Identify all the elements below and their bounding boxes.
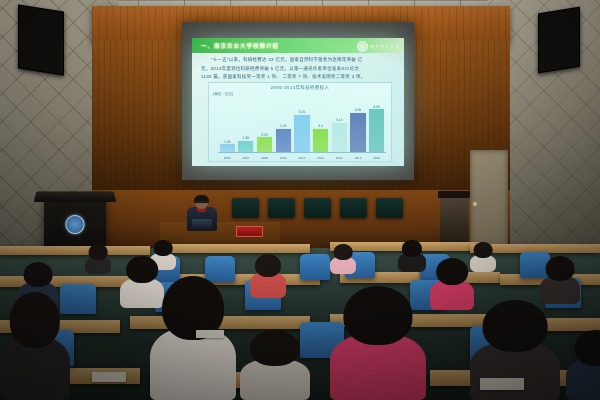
person-head	[250, 330, 300, 366]
audience-member	[250, 254, 286, 298]
person-head	[334, 244, 353, 260]
person-head	[255, 254, 281, 277]
lectern-top	[34, 191, 117, 202]
audience-member	[0, 292, 70, 400]
loudspeaker-right	[538, 7, 580, 74]
bar-value-label: 1.55	[243, 136, 249, 140]
bar-year-label: 2014	[373, 156, 380, 160]
bar-year-label: 2010	[299, 156, 306, 160]
bar	[332, 123, 347, 152]
slide-body-line-2: 元。2014年度到位科研经费突破 6 亿元，以第一通讯作者单位发表SCI论文	[201, 66, 395, 72]
audience-member	[85, 244, 111, 274]
presenter	[186, 196, 218, 230]
chart-plot-area: 1.0820061.5520072.0920083.2520095.262010…	[218, 99, 386, 152]
paper-notes	[480, 378, 524, 390]
slide-body-line-3: 1130 篇，获国家科技奖一等奖 1 项、 二等奖 7 项、技术发明奖二等奖 3…	[201, 74, 395, 80]
stage-chair	[268, 198, 295, 218]
audience-member	[540, 256, 580, 304]
projection-screen: 一、南京农业大学校情介绍 南京农业大学 “十一五”以来，科研经费达 33 亿元，…	[182, 22, 414, 180]
bar-column: 3.32011	[311, 99, 329, 152]
chart-y-unit-label: (单位：亿元)	[213, 92, 233, 97]
audience-member	[398, 240, 426, 272]
bar	[220, 144, 235, 152]
bar-year-label: 2007	[243, 156, 250, 160]
bar-year-label: 2011	[317, 156, 323, 160]
university-seal-icon	[357, 41, 368, 52]
stage-chair	[340, 198, 367, 218]
stage-chair-row	[232, 198, 412, 220]
bar-column: 3.252009	[274, 99, 292, 152]
audience-member	[566, 330, 600, 400]
bar	[276, 129, 291, 152]
door-knob-icon	[473, 202, 477, 206]
paper-notes	[92, 372, 126, 382]
audience-member	[240, 330, 310, 400]
bar-column: 6.052014	[368, 99, 386, 152]
bar-year-label: 2013	[355, 156, 362, 160]
projected-slide: 一、南京农业大学校情介绍 南京农业大学 “十一五”以来，科研经费达 33 亿元，…	[192, 38, 404, 166]
bar-column: 4.142012	[330, 99, 348, 152]
audience-member	[330, 244, 356, 274]
bar-value-label: 3.3	[318, 124, 323, 128]
stage-chair	[232, 198, 259, 218]
person-head	[154, 240, 173, 256]
bar-year-label: 2006	[224, 156, 231, 160]
bar-year-label: 2012	[336, 156, 343, 160]
person-head	[24, 262, 53, 287]
stage-chair	[376, 198, 403, 218]
bar-value-label: 5.56	[355, 108, 361, 112]
loudspeaker-left	[18, 4, 64, 75]
red-nameplate	[236, 226, 263, 237]
bar-value-label: 3.25	[280, 124, 286, 128]
bar-chart: 2006-2014年科技经费投入 (单位：亿元) 1.0820061.55200…	[208, 82, 392, 162]
bar-column: 1.082006	[218, 99, 236, 152]
audience-member	[150, 276, 236, 400]
bar	[350, 113, 365, 152]
person-head	[436, 258, 468, 285]
audience-member	[330, 286, 426, 400]
university-emblem-icon	[66, 215, 85, 234]
slide-body-text: “十一五”以来，科研经费达 33 亿元，国家自然科学基金为近两年突破 亿 元。2…	[201, 57, 395, 83]
university-logo: 南京农业大学	[357, 41, 400, 52]
bar-value-label: 6.05	[374, 105, 380, 109]
person-head	[474, 242, 493, 258]
bar	[369, 109, 384, 152]
bar-column: 1.552007	[237, 99, 255, 152]
bar-value-label: 2.09	[261, 133, 267, 137]
slide-body-line-1: “十一五”以来，科研经费达 33 亿元，国家自然科学基金为近两年突破 亿	[201, 57, 395, 63]
person-head	[483, 300, 548, 352]
university-logo-text: 南京农业大学	[370, 44, 400, 50]
bar-year-label: 2008	[261, 156, 268, 160]
bar-value-label: 5.26	[299, 110, 305, 114]
av-equipment-stand	[440, 196, 468, 244]
bar-year-label: 2009	[280, 156, 287, 160]
av-device	[438, 191, 470, 198]
lecture-seat	[300, 254, 330, 280]
desk	[0, 246, 150, 255]
bar-column: 5.262010	[293, 99, 311, 152]
person-head	[89, 244, 108, 260]
audience-member	[430, 258, 474, 310]
lecture-hall-photo: 一、南京农业大学校情介绍 南京农业大学 “十一五”以来，科研经费达 33 亿元，…	[0, 0, 600, 400]
person-head	[343, 286, 412, 345]
chart-x-axis	[218, 152, 386, 153]
presenter-laptop	[192, 219, 212, 228]
slide-title-text: 一、南京农业大学校情介绍	[201, 42, 279, 50]
bar-value-label: 1.08	[224, 140, 230, 144]
bar	[238, 141, 253, 152]
person-head	[402, 240, 422, 257]
paper-notes	[196, 330, 224, 338]
bar-value-label: 4.14	[336, 118, 342, 122]
person-head	[546, 256, 575, 281]
stage-chair	[304, 198, 331, 218]
bar	[257, 137, 272, 152]
person-head	[10, 292, 60, 348]
bar-column: 5.562013	[349, 99, 367, 152]
bar	[313, 129, 328, 152]
desk	[160, 244, 310, 253]
chart-title: 2006-2014年科技经费投入	[209, 85, 391, 91]
glasses-icon	[195, 201, 208, 205]
slide-title-bar: 一、南京农业大学校情介绍 南京农业大学	[192, 38, 404, 53]
bar	[294, 115, 309, 152]
bar-column: 2.092008	[255, 99, 273, 152]
